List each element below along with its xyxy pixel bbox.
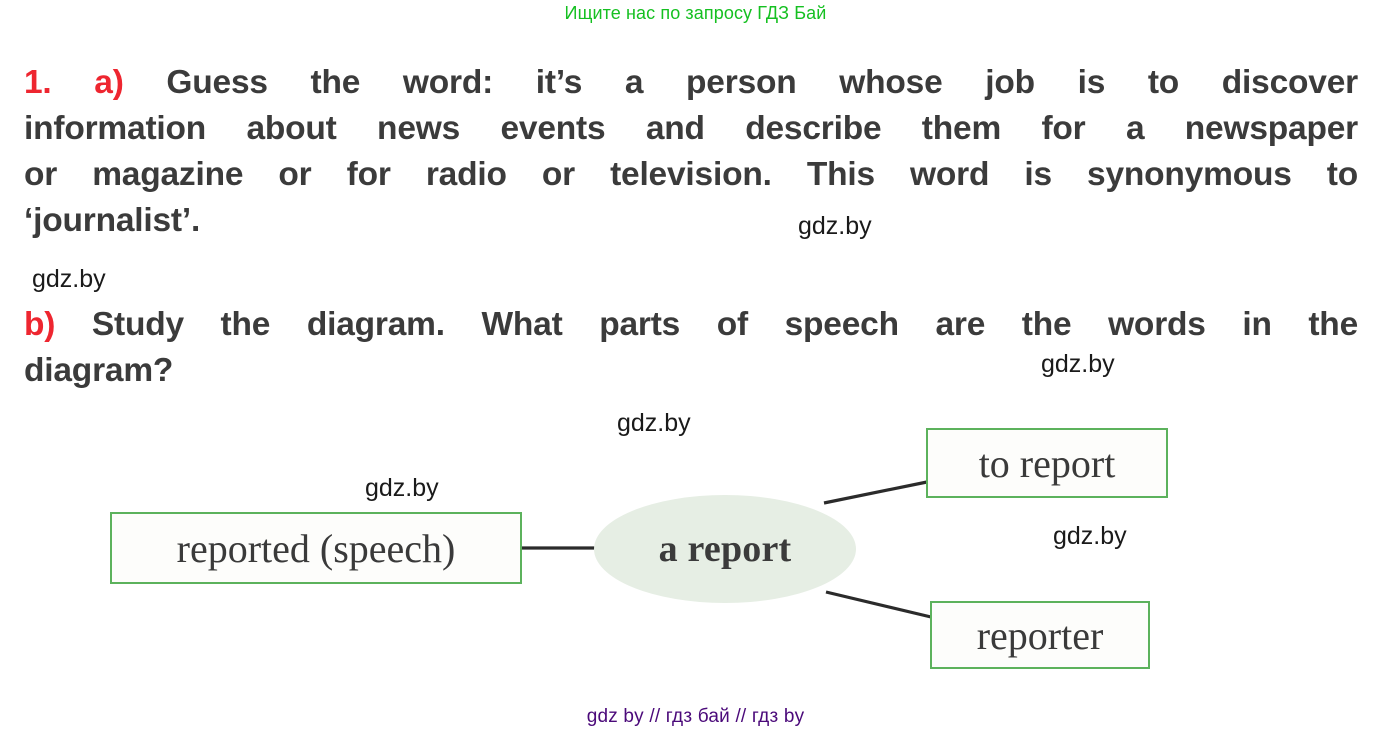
watermark-gdzby: gdz.by — [365, 474, 439, 503]
diagram-node-reporter[interactable]: reporter — [930, 601, 1150, 669]
diagram-node-to-report[interactable]: to report — [926, 428, 1168, 498]
promo-banner-text: Ищите нас по запросу ГДЗ Бай — [0, 3, 1391, 24]
task-1b-line-1-text: Study the diagram. What parts of speech … — [92, 306, 1358, 343]
diagram-node-a-report[interactable]: a report — [594, 495, 856, 603]
task-1b-line-2: diagram? — [24, 348, 1358, 394]
task-1a-line-3: or magazine or for radio or television. … — [24, 152, 1358, 198]
task-1a-line-1-text: Guess the word: it’s a person whose job … — [166, 64, 1358, 101]
watermark-gdzby: gdz.by — [617, 409, 691, 438]
task-1b-marker: b) — [24, 306, 55, 343]
task-1a-marker: 1. a) — [24, 64, 124, 101]
diagram-node-reported-speech[interactable]: reported (speech) — [110, 512, 522, 584]
task-1b-paragraph: b) Study the diagram. What parts of spee… — [24, 302, 1358, 394]
task-1b-line-1: b) Study the diagram. What parts of spee… — [24, 302, 1358, 348]
watermark-gdzby: gdz.by — [32, 265, 106, 294]
watermark-gdzby: gdz.by — [1053, 522, 1127, 551]
task-1a-line-2: information about news events and descri… — [24, 106, 1358, 152]
watermark-gdzby: gdz.by — [1041, 350, 1115, 379]
task-1a-line-1: 1. a) Guess the word: it’s a person whos… — [24, 60, 1358, 106]
footer-site-credit: gdz by // гдз бай // гдз by — [0, 706, 1391, 728]
task-1a-paragraph: 1. a) Guess the word: it’s a person whos… — [24, 60, 1358, 244]
connector-center-to-to-report — [824, 482, 927, 503]
task-1a-line-4: ‘journalist’. — [24, 198, 1358, 244]
watermark-gdzby: gdz.by — [798, 212, 872, 241]
connector-center-to-reporter — [826, 592, 931, 617]
